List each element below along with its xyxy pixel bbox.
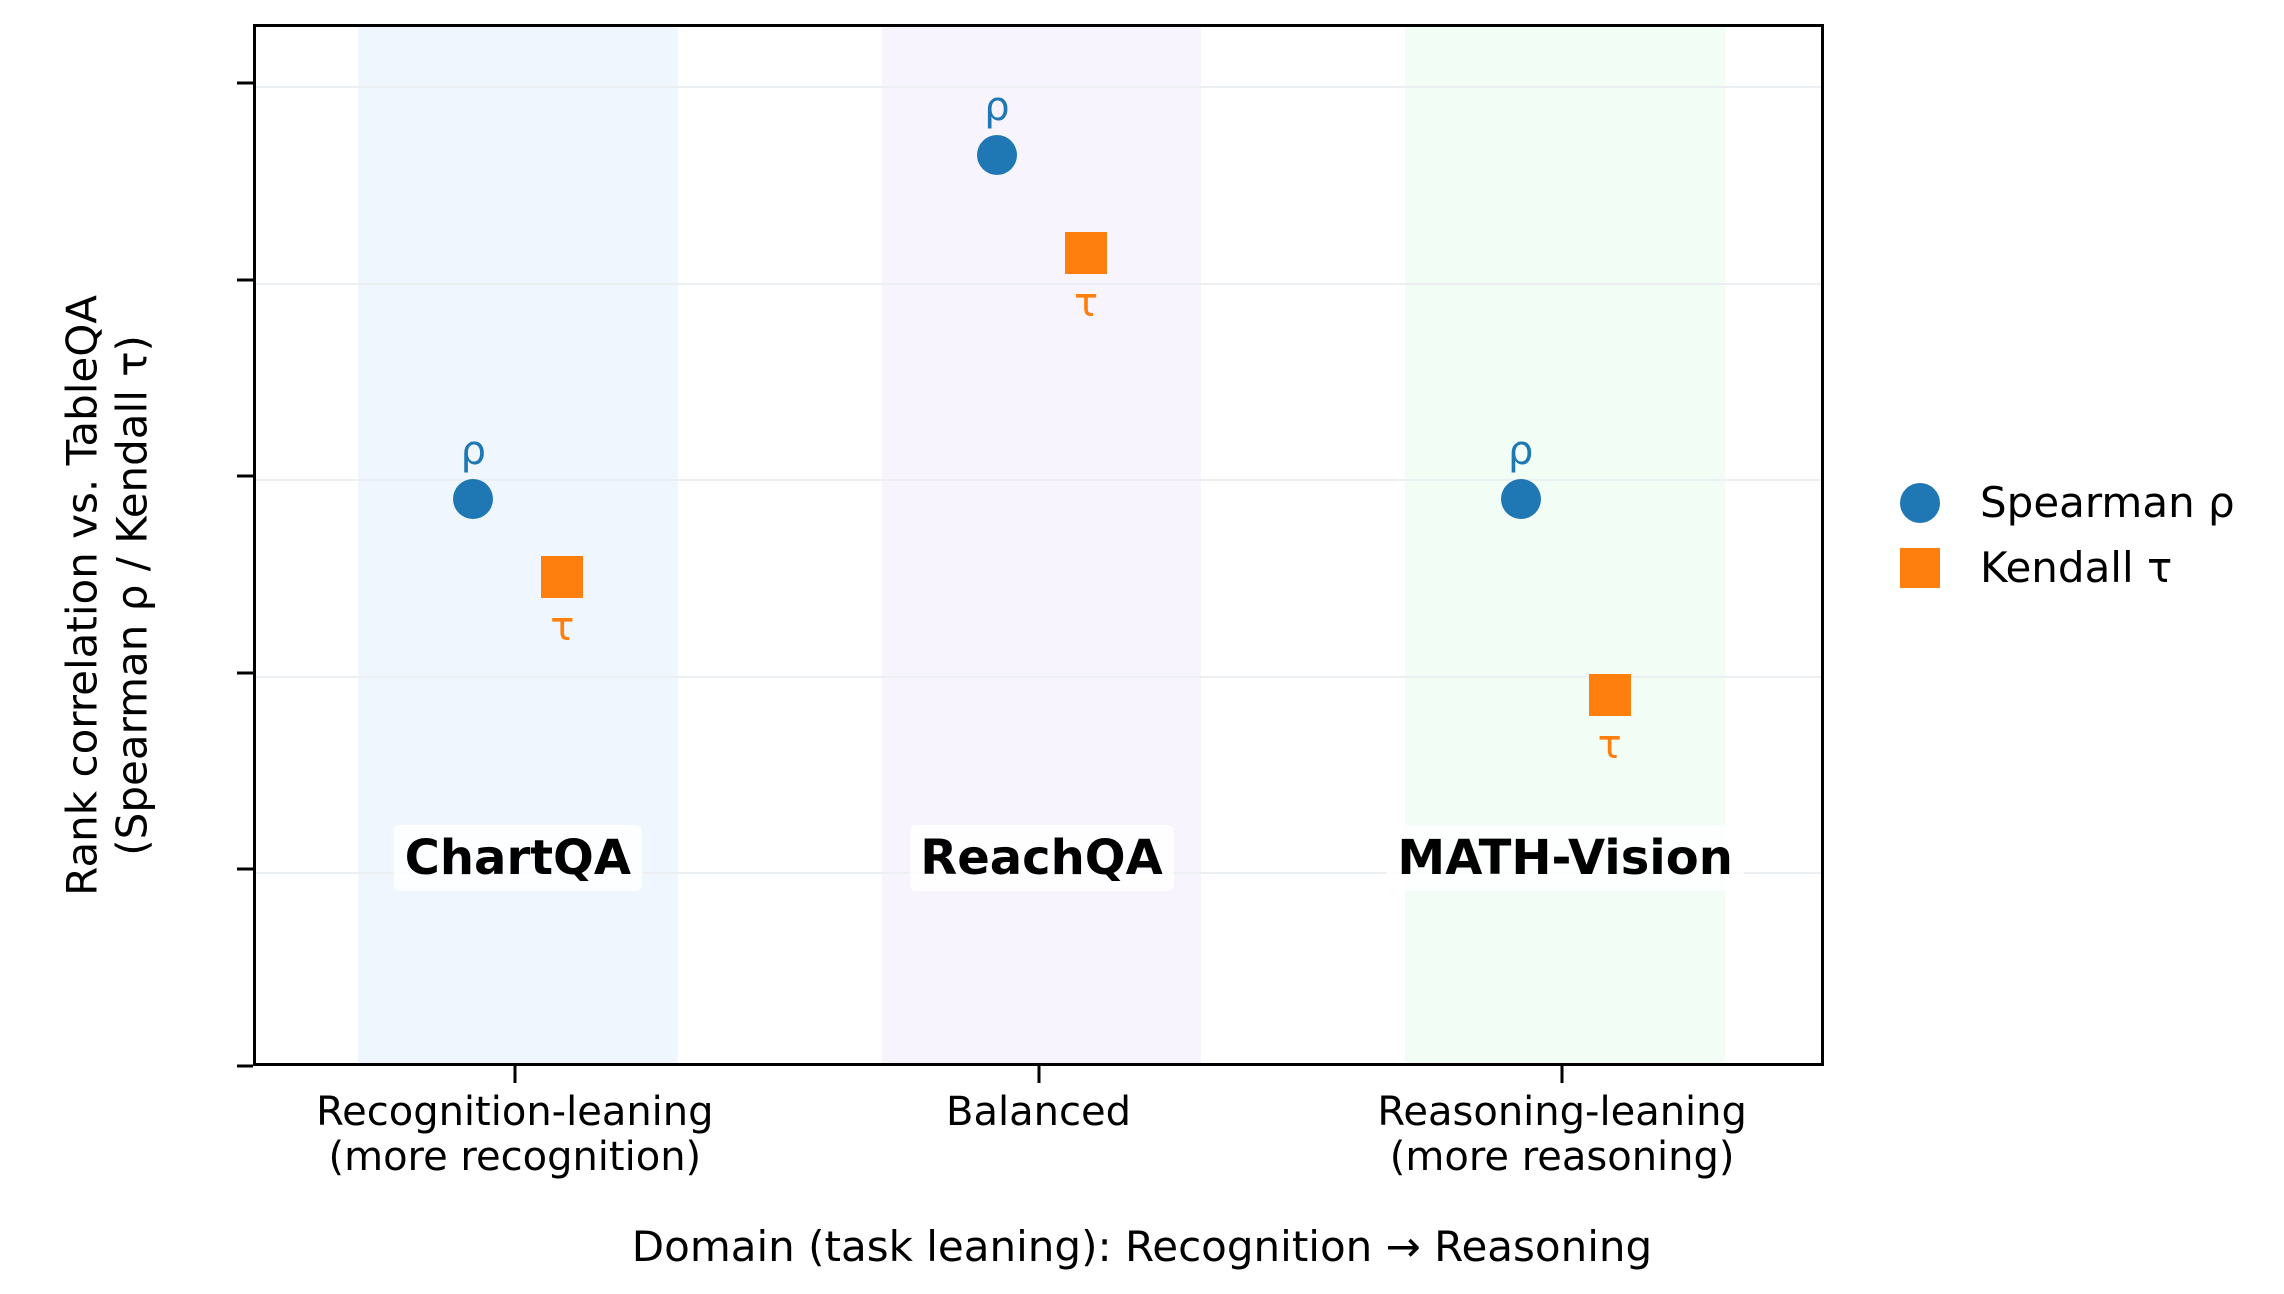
point-label-tau: τ xyxy=(1074,283,1098,323)
x-tick-label-line1: Recognition-leaning xyxy=(316,1090,713,1135)
gridline xyxy=(256,283,1821,285)
point-label-tau: τ xyxy=(550,607,574,647)
y-tick-mark xyxy=(237,868,253,871)
x-tick-label: Balanced xyxy=(946,1090,1131,1135)
gridline xyxy=(256,676,1821,678)
y-tick-mark xyxy=(237,278,253,281)
x-tick-label-line2: (more recognition) xyxy=(316,1135,713,1180)
legend-label-kendall: Kendall τ xyxy=(1980,543,2172,592)
x-tick-mark xyxy=(1037,1066,1040,1083)
y-tick-mark xyxy=(237,475,253,478)
y-tick-mark xyxy=(237,671,253,674)
dataset-annotation: MATH-Vision xyxy=(1386,825,1743,891)
y-axis-title: Rank correlation vs. TableQA (Spearman ρ… xyxy=(58,95,159,1095)
data-point-spearman[interactable] xyxy=(453,479,493,519)
data-point-kendall[interactable] xyxy=(1065,232,1107,274)
legend-circle-marker-icon xyxy=(1900,483,1940,523)
data-point-spearman[interactable] xyxy=(1501,479,1541,519)
legend-label-spearman: Spearman ρ xyxy=(1980,478,2235,527)
x-tick-mark xyxy=(1561,1066,1564,1083)
x-tick-mark xyxy=(513,1066,516,1083)
y-axis-title-line1: Rank correlation vs. TableQA xyxy=(58,95,108,1095)
x-tick-label: Recognition-leaning(more recognition) xyxy=(316,1090,713,1180)
category-band xyxy=(882,27,1201,1063)
legend: Spearman ρ Kendall τ xyxy=(1900,478,2235,592)
point-label-rho: ρ xyxy=(984,87,1009,127)
x-tick-label-line2: (more reasoning) xyxy=(1377,1135,1747,1180)
point-label-tau: τ xyxy=(1598,725,1622,765)
data-point-kendall[interactable] xyxy=(541,556,583,598)
category-band xyxy=(1405,27,1724,1063)
data-point-spearman[interactable] xyxy=(977,135,1017,175)
y-tick-mark xyxy=(237,1065,253,1068)
gridline xyxy=(256,479,1821,481)
legend-item-spearman[interactable]: Spearman ρ xyxy=(1900,478,2235,527)
x-tick-label-line1: Balanced xyxy=(946,1090,1131,1135)
legend-item-kendall[interactable]: Kendall τ xyxy=(1900,543,2235,592)
point-label-rho: ρ xyxy=(461,431,486,471)
y-tick-mark xyxy=(237,81,253,84)
chart-figure: Rank correlation vs. TableQA (Spearman ρ… xyxy=(0,0,2284,1294)
legend-square-marker-icon xyxy=(1900,548,1940,588)
gridline xyxy=(256,86,1821,88)
plot-area: ρρρτττ ChartQAReachQAMATH-Vision xyxy=(253,24,1824,1066)
dataset-annotation: ReachQA xyxy=(909,825,1173,891)
y-axis-title-line2: (Spearman ρ / Kendall τ) xyxy=(108,95,158,1095)
x-tick-label-line1: Reasoning-leaning xyxy=(1377,1090,1747,1135)
dataset-annotation: ChartQA xyxy=(394,825,642,891)
data-point-kendall[interactable] xyxy=(1589,674,1631,716)
point-label-rho: ρ xyxy=(1508,431,1533,471)
category-band xyxy=(358,27,677,1063)
x-axis-title: Domain (task leaning): Recognition → Rea… xyxy=(0,1222,2284,1271)
x-tick-label: Reasoning-leaning(more reasoning) xyxy=(1377,1090,1747,1180)
